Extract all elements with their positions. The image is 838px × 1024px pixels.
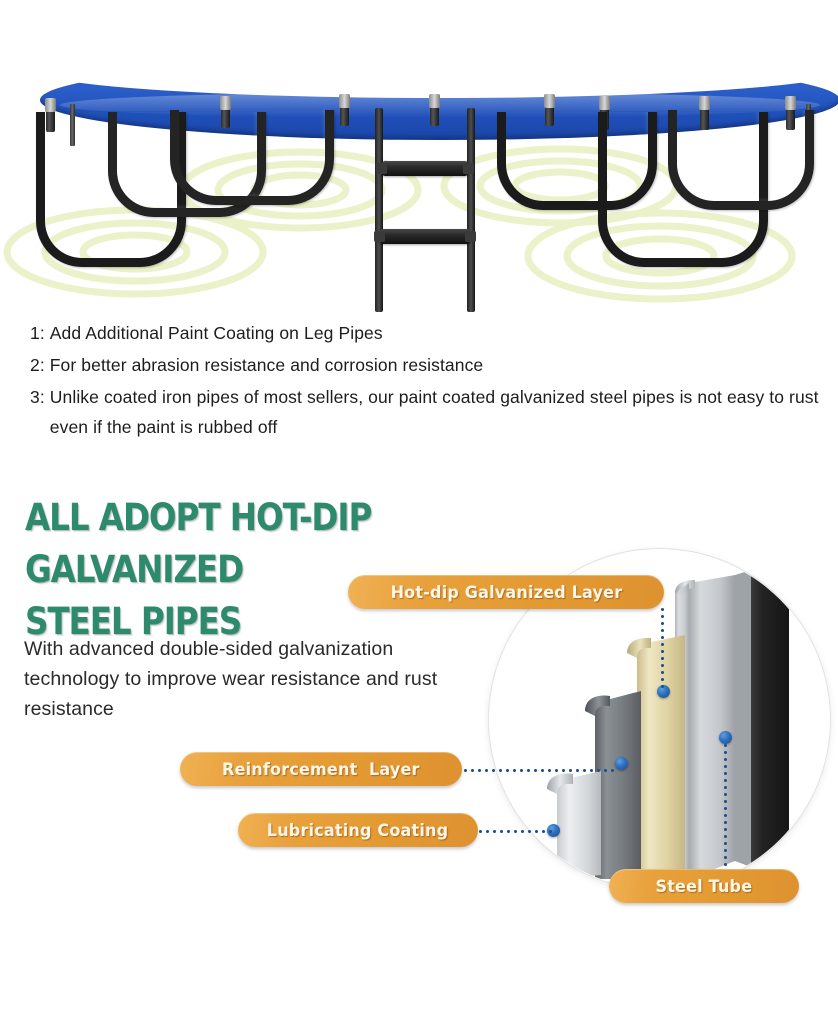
ladder-rail-right: [467, 108, 475, 312]
list-item: 1: Add Additional Paint Coating on Leg P…: [30, 318, 820, 348]
callout-reinforcement-layer[interactable]: Reinforcement Layer: [180, 752, 462, 786]
leader-line-reinforcement: [462, 769, 618, 772]
callout-hot-dip-galvanized-layer[interactable]: Hot-dip Galvanized Layer: [348, 575, 664, 609]
callout-steel-tube[interactable]: Steel Tube: [609, 869, 799, 903]
steel-tube-gap: [735, 570, 751, 867]
leg-pole: [340, 104, 349, 126]
callout-label: Steel Tube: [656, 877, 753, 896]
bullet-number: 1:: [30, 318, 50, 348]
callout-label: Lubricating Coating: [267, 821, 448, 840]
callout-lubricating-coating[interactable]: Lubricating Coating: [238, 813, 478, 847]
bullet-number: 2:: [30, 350, 50, 380]
bullet-number: 3:: [30, 382, 50, 442]
feature-bullet-list: 1: Add Additional Paint Coating on Leg P…: [30, 318, 820, 444]
lubricating-coating-layer: [557, 771, 601, 879]
leader-line-galvanized: [661, 606, 664, 688]
infographic-page: 1: Add Additional Paint Coating on Leg P…: [0, 0, 838, 1024]
leg-pole: [430, 104, 439, 126]
leader-line-lubricating: [477, 830, 553, 833]
leader-line-steel-tube: [724, 742, 727, 867]
ladder-step: [382, 161, 468, 176]
section-description: With advanced double-sided galvanization…: [24, 634, 454, 724]
headline-line-1: ALL ADOPT HOT-DIP GALVANIZED: [25, 496, 371, 591]
steel-tube-core-layer: [751, 559, 789, 879]
list-item: 3: Unlike coated iron pipes of most sell…: [30, 382, 820, 442]
list-item: 2: For better abrasion resistance and co…: [30, 350, 820, 380]
trampoline-u-leg: [170, 110, 334, 205]
trampoline-u-leg: [668, 110, 814, 210]
bullet-text: Unlike coated iron pipes of most sellers…: [50, 382, 820, 442]
ladder-step: [380, 229, 470, 244]
bullet-text: Add Additional Paint Coating on Leg Pipe…: [50, 318, 820, 348]
bullet-text: For better abrasion resistance and corro…: [50, 350, 820, 380]
rim-top-mask: [30, 40, 838, 98]
callout-label: Hot-dip Galvanized Layer: [390, 583, 622, 602]
ladder-rail-left: [375, 108, 383, 312]
steel-tube-outer-layer: [689, 575, 735, 879]
callout-label: Reinforcement Layer: [222, 760, 420, 779]
reinforcement-layer: [595, 691, 641, 879]
trampoline-legs-photo: [0, 0, 838, 312]
